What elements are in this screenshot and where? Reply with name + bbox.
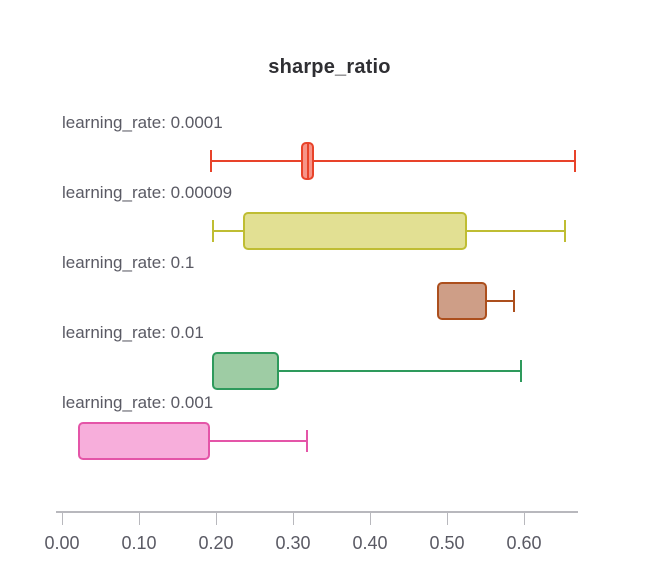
- box-rect[interactable]: [212, 352, 279, 390]
- plot-area: learning_rate: 0.0001learning_rate: 0.00…: [0, 0, 659, 579]
- whisker-high-cap: [306, 430, 308, 452]
- whisker-high-line: [314, 160, 576, 162]
- box-rect[interactable]: [437, 282, 487, 320]
- box-plot-track: [0, 347, 659, 395]
- whisker-high-cap: [564, 220, 566, 242]
- facet-label: learning_rate: 0.0001: [62, 113, 223, 133]
- whisker-high-cap: [574, 150, 576, 172]
- box-plot-track: [0, 207, 659, 255]
- whisker-high-line: [467, 230, 566, 232]
- box-rect[interactable]: [78, 422, 210, 460]
- box-plot-track: [0, 137, 659, 185]
- whisker-high-line: [487, 300, 515, 302]
- whisker-high-cap: [513, 290, 515, 312]
- facet-label: learning_rate: 0.001: [62, 393, 213, 413]
- facet-label: learning_rate: 0.01: [62, 323, 204, 343]
- box-plot-chart: sharpe_ratio learning_rate: 0.0001learni…: [0, 0, 659, 579]
- whisker-high-line: [210, 440, 308, 442]
- whisker-low-cap: [212, 220, 214, 242]
- box-plot-track: [0, 277, 659, 325]
- facet-label: learning_rate: 0.1: [62, 253, 194, 273]
- whisker-low-line: [212, 230, 243, 232]
- box-rect[interactable]: [243, 212, 467, 250]
- whisker-high-line: [279, 370, 522, 372]
- whisker-high-cap: [520, 360, 522, 382]
- whisker-low-cap: [210, 150, 212, 172]
- box-plot-track: [0, 417, 659, 465]
- facet-label: learning_rate: 0.00009: [62, 183, 232, 203]
- whisker-low-line: [210, 160, 301, 162]
- median-line: [307, 142, 309, 180]
